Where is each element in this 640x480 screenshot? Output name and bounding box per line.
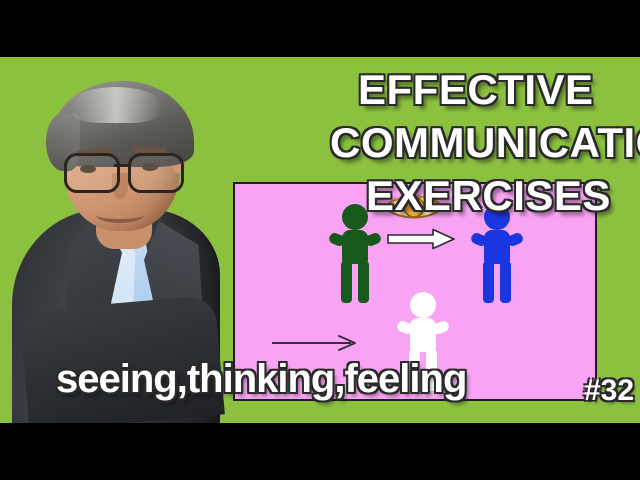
video-thumbnail: EFFECTIVE COMMUNICATION EXERCISES seeing… [0, 0, 640, 480]
glasses-icon [64, 153, 182, 187]
glasses-lens-left [64, 153, 120, 193]
headline-line-3: EXERCISES [366, 172, 611, 220]
blue-person-leg-right [500, 261, 511, 303]
blue-person-leg-left [483, 261, 494, 303]
green-person-leg-right [358, 261, 369, 303]
subtitle-text: seeing,thinking,feeling [56, 357, 466, 402]
white-person-torso [410, 318, 436, 352]
green-person-torso [342, 230, 368, 264]
presenter-hair-highlight [70, 87, 162, 123]
white-block-arrow-icon [387, 228, 455, 250]
letterbox-bar-top [0, 0, 640, 57]
glasses-lens-right [128, 153, 184, 193]
headline-line-2: COMMUNICATION [330, 119, 640, 167]
green-person-head [342, 204, 368, 230]
thumbnail-background: EFFECTIVE COMMUNICATION EXERCISES seeing… [0, 57, 640, 423]
episode-number-badge: #32 [584, 374, 634, 408]
glasses-bridge [114, 164, 130, 167]
letterbox-bar-bottom [0, 423, 640, 480]
blue-person-torso [484, 230, 510, 264]
presenter-smile [96, 207, 144, 223]
green-person-leg-left [341, 261, 352, 303]
white-person-head [410, 292, 436, 318]
headline-line-1: EFFECTIVE [358, 66, 594, 114]
thin-line-arrow-icon [271, 334, 357, 352]
